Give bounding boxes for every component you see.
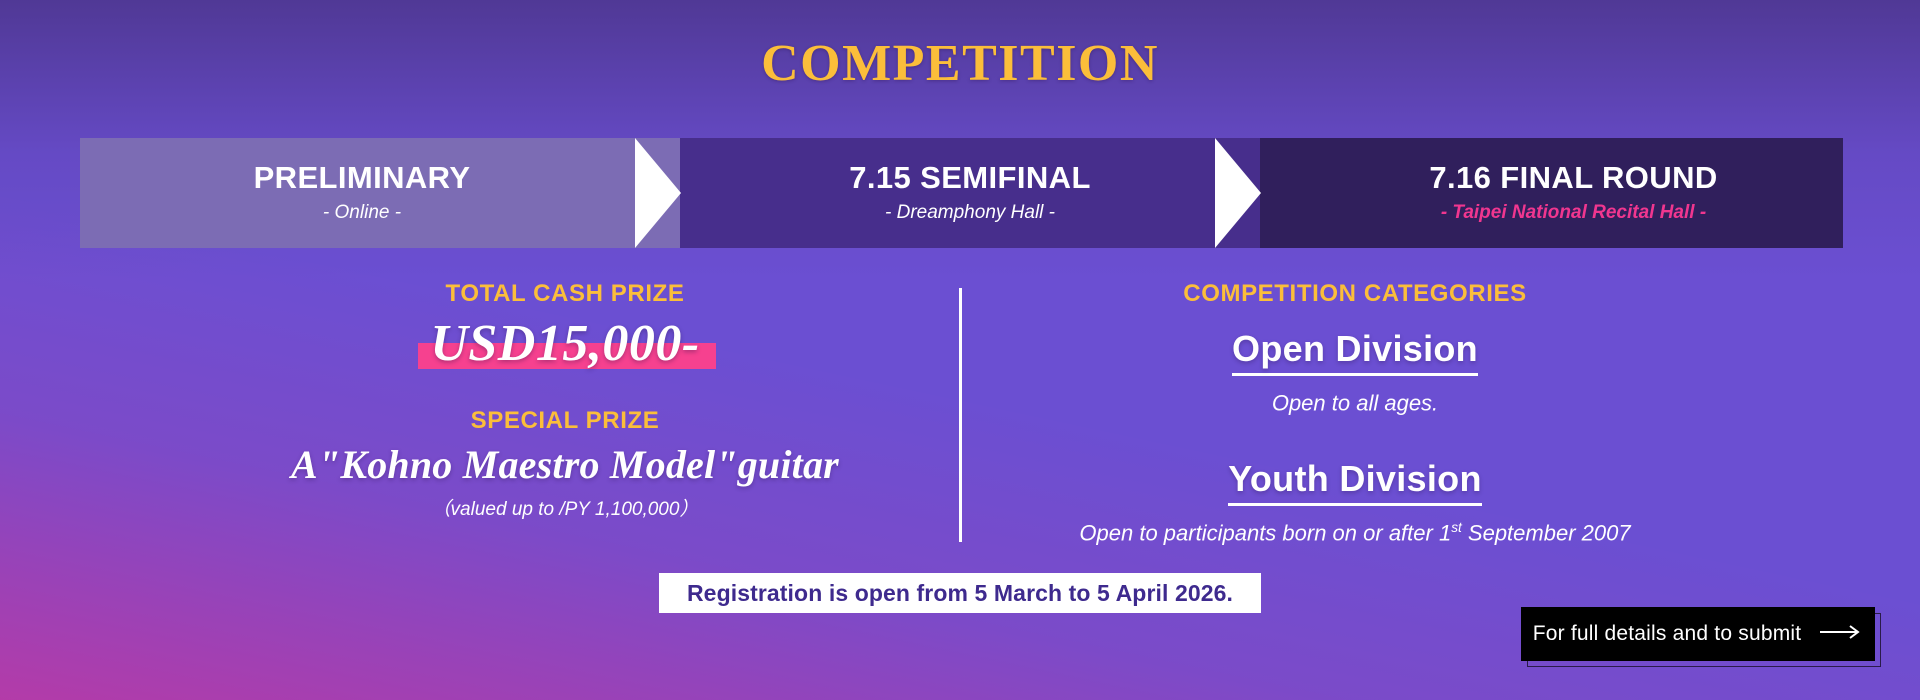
- division-name: Youth Division: [1228, 458, 1482, 506]
- registration-text: Registration is open from 5 March to 5 A…: [687, 580, 1233, 607]
- stage-venue: - Dreamphony Hall -: [885, 202, 1055, 224]
- registration-banner: Registration is open from 5 March to 5 A…: [659, 573, 1261, 613]
- division-name: Open Division: [1232, 328, 1478, 376]
- arrow-right-icon: [1819, 624, 1863, 645]
- division-note-suffix: September 2007: [1462, 521, 1631, 546]
- stage-venue: - Taipei National Recital Hall -: [1441, 202, 1706, 224]
- stage-banner: PRELIMINARY - Online - 7.15 SEMIFINAL - …: [80, 138, 1843, 248]
- cash-prize-amount-wrap: USD15,000-: [416, 314, 713, 373]
- division-note: Open to participants born on or after 1s…: [960, 520, 1750, 546]
- stage-segment-preliminary[interactable]: PRELIMINARY - Online -: [80, 138, 680, 248]
- total-cash-prize-label: TOTAL CASH PRIZE: [170, 280, 960, 308]
- chevron-right-icon: [635, 138, 681, 248]
- category-youth-division: Youth Division Open to participants born…: [960, 438, 1750, 546]
- prizes-column: TOTAL CASH PRIZE USD15,000- SPECIAL PRIZ…: [170, 280, 960, 521]
- category-open-division: Open Division Open to all ages.: [960, 308, 1750, 416]
- stage-venue: - Online -: [323, 202, 401, 224]
- division-note: Open to all ages.: [960, 390, 1750, 416]
- stage-name: PRELIMINARY: [254, 162, 471, 195]
- division-note-prefix: Open to all ages.: [1272, 390, 1438, 415]
- stage-name: 7.16 FINAL ROUND: [1429, 162, 1717, 195]
- page-title: COMPETITION: [0, 34, 1920, 93]
- stage-segment-semifinal[interactable]: 7.15 SEMIFINAL - Dreamphony Hall -: [680, 138, 1260, 248]
- cta-wrapper: For full details and to submit: [1521, 607, 1881, 667]
- full-details-submit-button[interactable]: For full details and to submit: [1521, 607, 1875, 661]
- chevron-right-icon: [1215, 138, 1261, 248]
- special-prize-value: A"Kohno Maestro Model"guitar: [170, 441, 960, 488]
- cta-label: For full details and to submit: [1533, 622, 1802, 646]
- division-note-sup: st: [1451, 520, 1462, 535]
- special-prize-note: （valued up to /PY 1,100,000）: [170, 494, 960, 521]
- division-note-prefix: Open to participants born on or after 1: [1079, 521, 1451, 546]
- cash-prize-amount: USD15,000-: [416, 314, 713, 373]
- stage-segment-final[interactable]: 7.16 FINAL ROUND - Taipei National Recit…: [1260, 138, 1843, 248]
- special-prize-label: SPECIAL PRIZE: [170, 407, 960, 435]
- competition-banner-page: COMPETITION PRELIMINARY - Online - 7.15 …: [0, 0, 1920, 700]
- stage-name: 7.15 SEMIFINAL: [849, 162, 1091, 195]
- competition-categories-label: COMPETITION CATEGORIES: [960, 280, 1750, 308]
- categories-column: COMPETITION CATEGORIES Open Division Ope…: [960, 280, 1750, 547]
